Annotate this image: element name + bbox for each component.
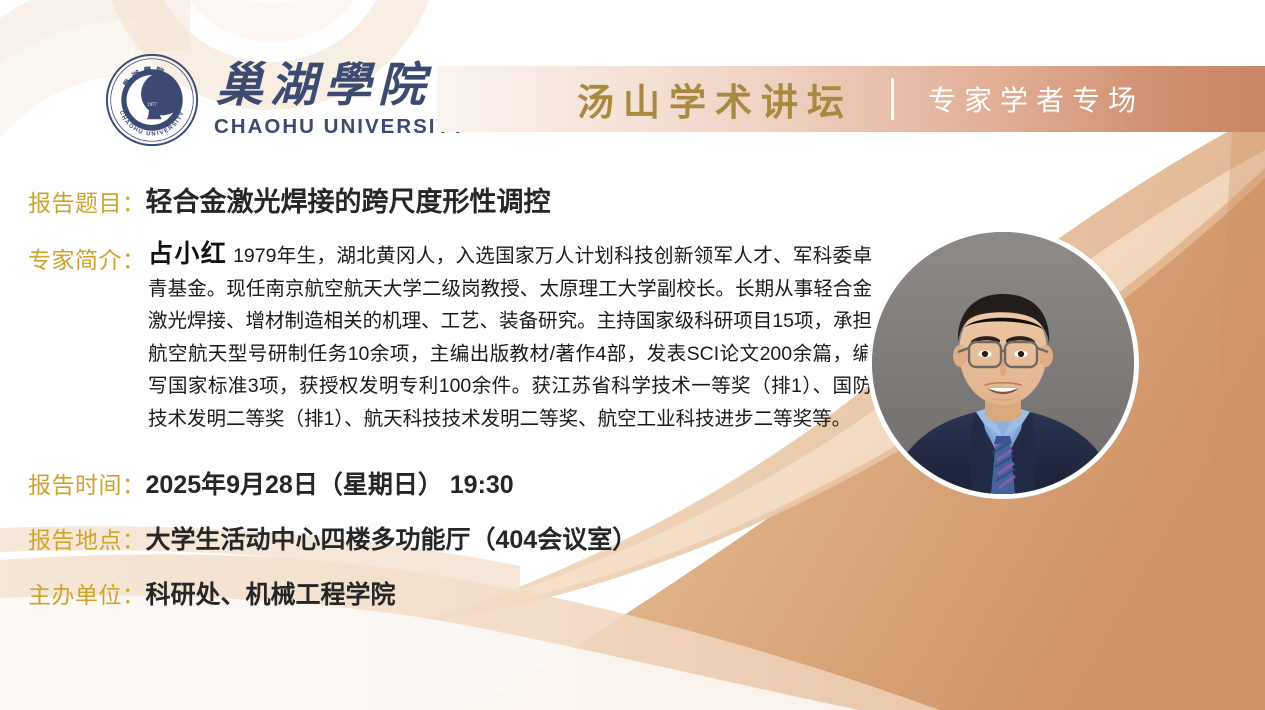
value-organizer: 科研处、机械工程学院 [146, 575, 396, 611]
speaker-name: 占小红 [148, 240, 227, 268]
label-lecture-place: 报告地点： [28, 521, 146, 555]
label-lecture-time: 报告时间： [28, 466, 146, 500]
row-speaker-bio-label: 专家简介： [28, 241, 146, 275]
speaker-portrait [872, 232, 1134, 494]
row-organizer: 主办单位： 科研处、机械工程学院 [28, 575, 396, 611]
speaker-portrait-image [872, 232, 1134, 494]
value-lecture-place: 大学生活动中心四楼多功能厅（404会议室） [146, 520, 638, 556]
label-speaker-bio: 专家简介： [28, 241, 146, 275]
row-lecture-time: 报告时间： 2025年9月28日（星期日） 19:30 [28, 465, 514, 501]
lecture-poster: 巢湖學院 CHAOHU UNIVERSITY 1977 巢湖學院 CHAOHU … [0, 0, 1265, 710]
value-lecture-time: 2025年9月28日（星期日） 19:30 [146, 465, 514, 501]
label-lecture-title: 报告题目： [28, 184, 146, 218]
speaker-bio-text: 占小红1979年生，湖北黄冈人，入选国家万人计划科技创新领军人才、军科委卓青基金… [148, 238, 872, 435]
value-lecture-title: 轻合金激光焊接的跨尺度形性调控 [146, 180, 551, 219]
row-lecture-title: 报告题目： 轻合金激光焊接的跨尺度形性调控 [28, 180, 551, 219]
speaker-bio-paragraph: 1979年生，湖北黄冈人，入选国家万人计划科技创新领军人才、军科委卓青基金。现任… [148, 245, 872, 430]
row-lecture-place: 报告地点： 大学生活动中心四楼多功能厅（404会议室） [28, 520, 637, 556]
label-organizer: 主办单位： [28, 576, 146, 610]
